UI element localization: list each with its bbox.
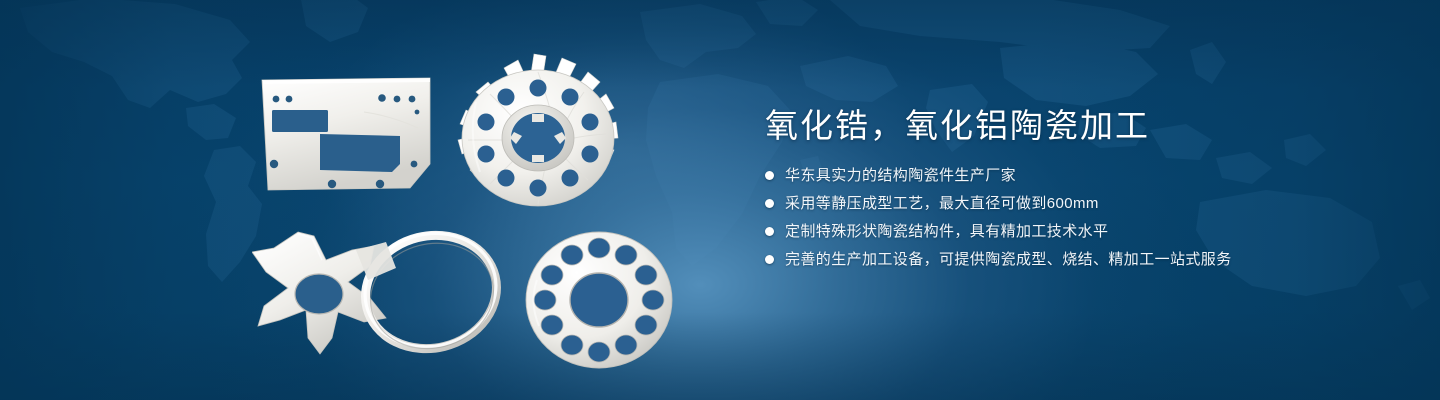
ceramic-ring: [352, 228, 510, 356]
ceramic-impeller-disc: [446, 52, 631, 220]
list-item: 完善的生产加工设备，可提供陶瓷成型、烧结、精加工一站式服务: [765, 246, 1385, 273]
bullet-dot-icon: [765, 255, 774, 264]
list-item: 华东具实力的结构陶瓷件生产厂家: [765, 162, 1385, 189]
page-title: 氧化锆，氧化铝陶瓷加工: [765, 104, 1385, 148]
ceramic-mounting-plate: [252, 72, 442, 198]
promo-banner: 氧化锆，氧化铝陶瓷加工 华东具实力的结构陶瓷件生产厂家 采用等静压成型工艺，最大…: [0, 0, 1440, 400]
bullet-dot-icon: [765, 227, 774, 236]
feature-text: 采用等静压成型工艺，最大直径可做到600mm: [785, 194, 1099, 214]
bullet-dot-icon: [765, 171, 774, 180]
feature-list: 华东具实力的结构陶瓷件生产厂家 采用等静压成型工艺，最大直径可做到600mm 定…: [765, 162, 1385, 273]
list-item: 采用等静压成型工艺，最大直径可做到600mm: [765, 190, 1385, 217]
feature-text: 定制特殊形状陶瓷结构件，具有精加工技术水平: [785, 222, 1108, 242]
list-item: 定制特殊形状陶瓷结构件，具有精加工技术水平: [765, 218, 1385, 245]
bullet-dot-icon: [765, 199, 774, 208]
feature-text: 完善的生产加工设备，可提供陶瓷成型、烧结、精加工一站式服务: [785, 250, 1232, 270]
banner-text-block: 氧化锆，氧化铝陶瓷加工 华东具实力的结构陶瓷件生产厂家 采用等静压成型工艺，最大…: [765, 104, 1385, 274]
feature-text: 华东具实力的结构陶瓷件生产厂家: [785, 166, 1016, 186]
ceramic-perforated-disc: [523, 228, 675, 372]
product-image-group: [0, 0, 720, 400]
